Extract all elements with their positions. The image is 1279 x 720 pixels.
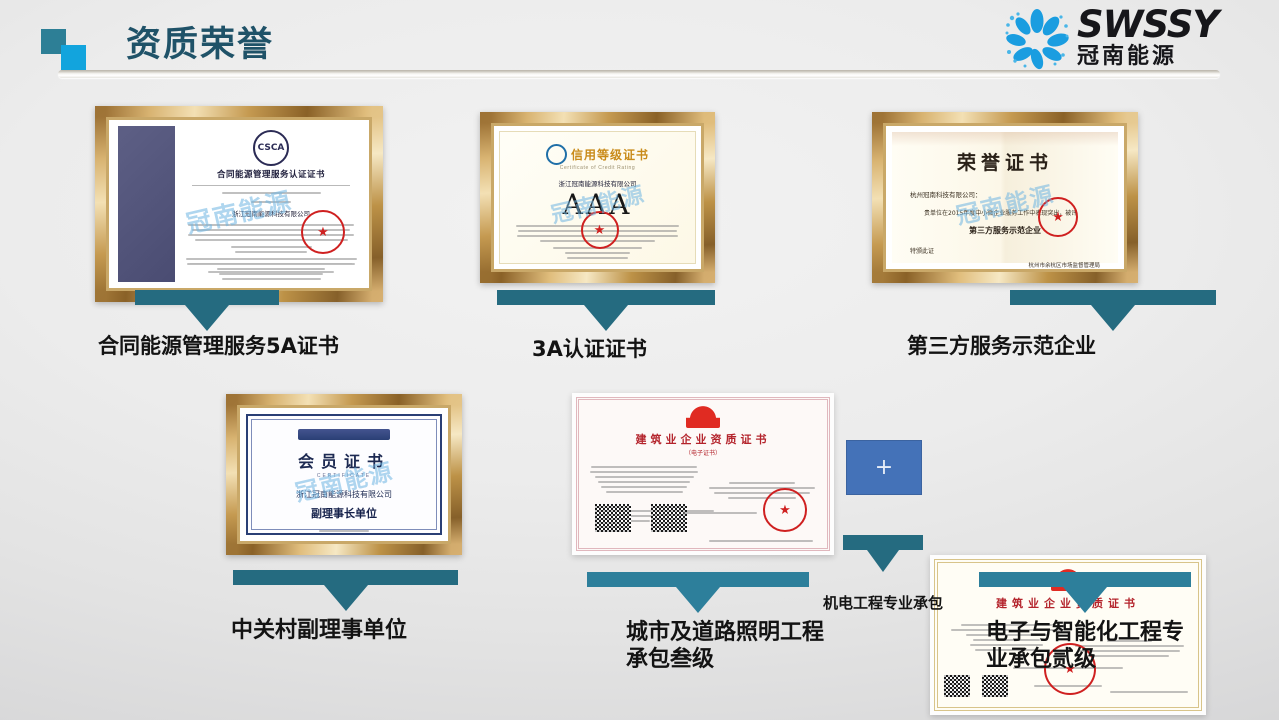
certificate-image-cert-5a: CSCA 合同能源管理服务认证证书 浙江冠南能源科技有限公司 <box>106 117 372 291</box>
red-seal-icon <box>301 210 345 254</box>
caption-cert-lighting: 城市及道路照明工程承包叁级 <box>626 620 826 674</box>
qr-code-icon <box>595 504 631 532</box>
cert-doc-title: 荣誉证书 <box>892 148 1118 175</box>
cert-note: 特颁此证 <box>910 246 1100 255</box>
qr-code-icon <box>982 675 1008 697</box>
arrow-cert-5a <box>135 290 279 331</box>
cert-role: 副理事长单位 <box>248 505 440 521</box>
page-title: 资质荣誉 <box>126 16 274 67</box>
qr-code-icon <box>651 504 687 532</box>
certificate-card-cert-lighting[interactable]: 建筑业企业资质证书 （电子证书） <box>572 393 834 555</box>
header-square-light <box>61 45 86 70</box>
logo-subtitle: 冠南能源 <box>1077 44 1267 70</box>
red-seal-icon <box>581 211 619 249</box>
certificate-card-cert-member[interactable]: 会员证书 CERTIFICATE 浙江冠南能源科技有限公司 副理事长单位 冠南能… <box>226 394 462 555</box>
credit-rating-logo-icon <box>546 144 567 165</box>
cert-doc-title: 建筑业企业资质证书 <box>579 431 827 447</box>
caption-cert-member: 中关村副理事单位 <box>231 618 511 645</box>
caption-cert-5a: 合同能源管理服务5A证书 <box>98 334 398 360</box>
cert-company: 浙江冠南能源科技有限公司 <box>500 178 695 188</box>
caption-extra: 机电工程专业承包 <box>823 594 1003 612</box>
arrow-cert-member <box>233 570 458 611</box>
cert-doc-title: 会员证书 <box>248 448 440 472</box>
certificate-image-cert-member: 会员证书 CERTIFICATE 浙江冠南能源科技有限公司 副理事长单位 冠南能… <box>237 405 451 544</box>
arrow-cert-lighting <box>587 572 809 613</box>
qr-code-icon <box>944 675 970 697</box>
cert-doc-title: 信用等级证书 <box>571 146 649 163</box>
cert-doc-title: 合同能源管理服务认证证书 <box>181 168 361 180</box>
caption-cert-3a: 3A认证证书 <box>532 337 792 363</box>
certificate-card-cert-3a[interactable]: 信用等级证书 Certificate of Credit Rating 浙江冠南… <box>480 112 715 283</box>
certificate-image-cert-lighting: 建筑业企业资质证书 （电子证书） <box>576 397 830 551</box>
add-certificate-button[interactable]: + <box>846 440 922 495</box>
national-emblem-icon <box>686 405 720 428</box>
csca-logo-icon: CSCA <box>253 130 289 166</box>
cert-side-panel <box>118 126 175 282</box>
certificate-image-cert-3a: 信用等级证书 Certificate of Credit Rating 浙江冠南… <box>491 123 704 272</box>
certificate-image-cert-honor: 荣誉证书 杭州冠南科技有限公司： 贵单位在2015年度中小微企业服务工作中表现突… <box>883 123 1127 272</box>
member-banner <box>298 429 390 440</box>
red-seal-icon <box>1038 197 1078 237</box>
slide-canvas: 资质荣誉 SWSSY <box>0 0 1279 720</box>
cert-doc-subtitle: （电子证书） <box>579 448 827 457</box>
caption-cert-electronic: 电子与智能化工程专业承包贰级 <box>986 620 1196 674</box>
cert-company: 杭州冠南科技有限公司： <box>910 189 1100 199</box>
cert-doc-subtitle: CERTIFICATE <box>248 473 440 479</box>
arrow-cert-3a <box>497 290 715 331</box>
certificate-card-cert-5a[interactable]: CSCA 合同能源管理服务认证证书 浙江冠南能源科技有限公司 <box>95 106 383 302</box>
blue-petal-emblem-icon <box>1003 8 1071 70</box>
arrow-cert-electronic <box>979 572 1191 613</box>
red-seal-icon <box>763 488 807 532</box>
cert-doc-subtitle: Certificate of Credit Rating <box>500 165 695 171</box>
arrow-extra <box>843 535 923 572</box>
cert-company: 浙江冠南能源科技有限公司 <box>248 489 440 500</box>
cert-issuer: 杭州市余杭区市场监督管理局 <box>910 261 1100 269</box>
company-logo: SWSSY 冠南能源 <box>1003 6 1271 72</box>
arrow-cert-honor <box>1010 290 1216 331</box>
certificate-card-cert-honor[interactable]: 荣誉证书 杭州冠南科技有限公司： 贵单位在2015年度中小微企业服务工作中表现突… <box>872 112 1138 283</box>
caption-cert-honor: 第三方服务示范企业 <box>907 334 1197 360</box>
logo-wordmark: SWSSY <box>1077 6 1267 44</box>
